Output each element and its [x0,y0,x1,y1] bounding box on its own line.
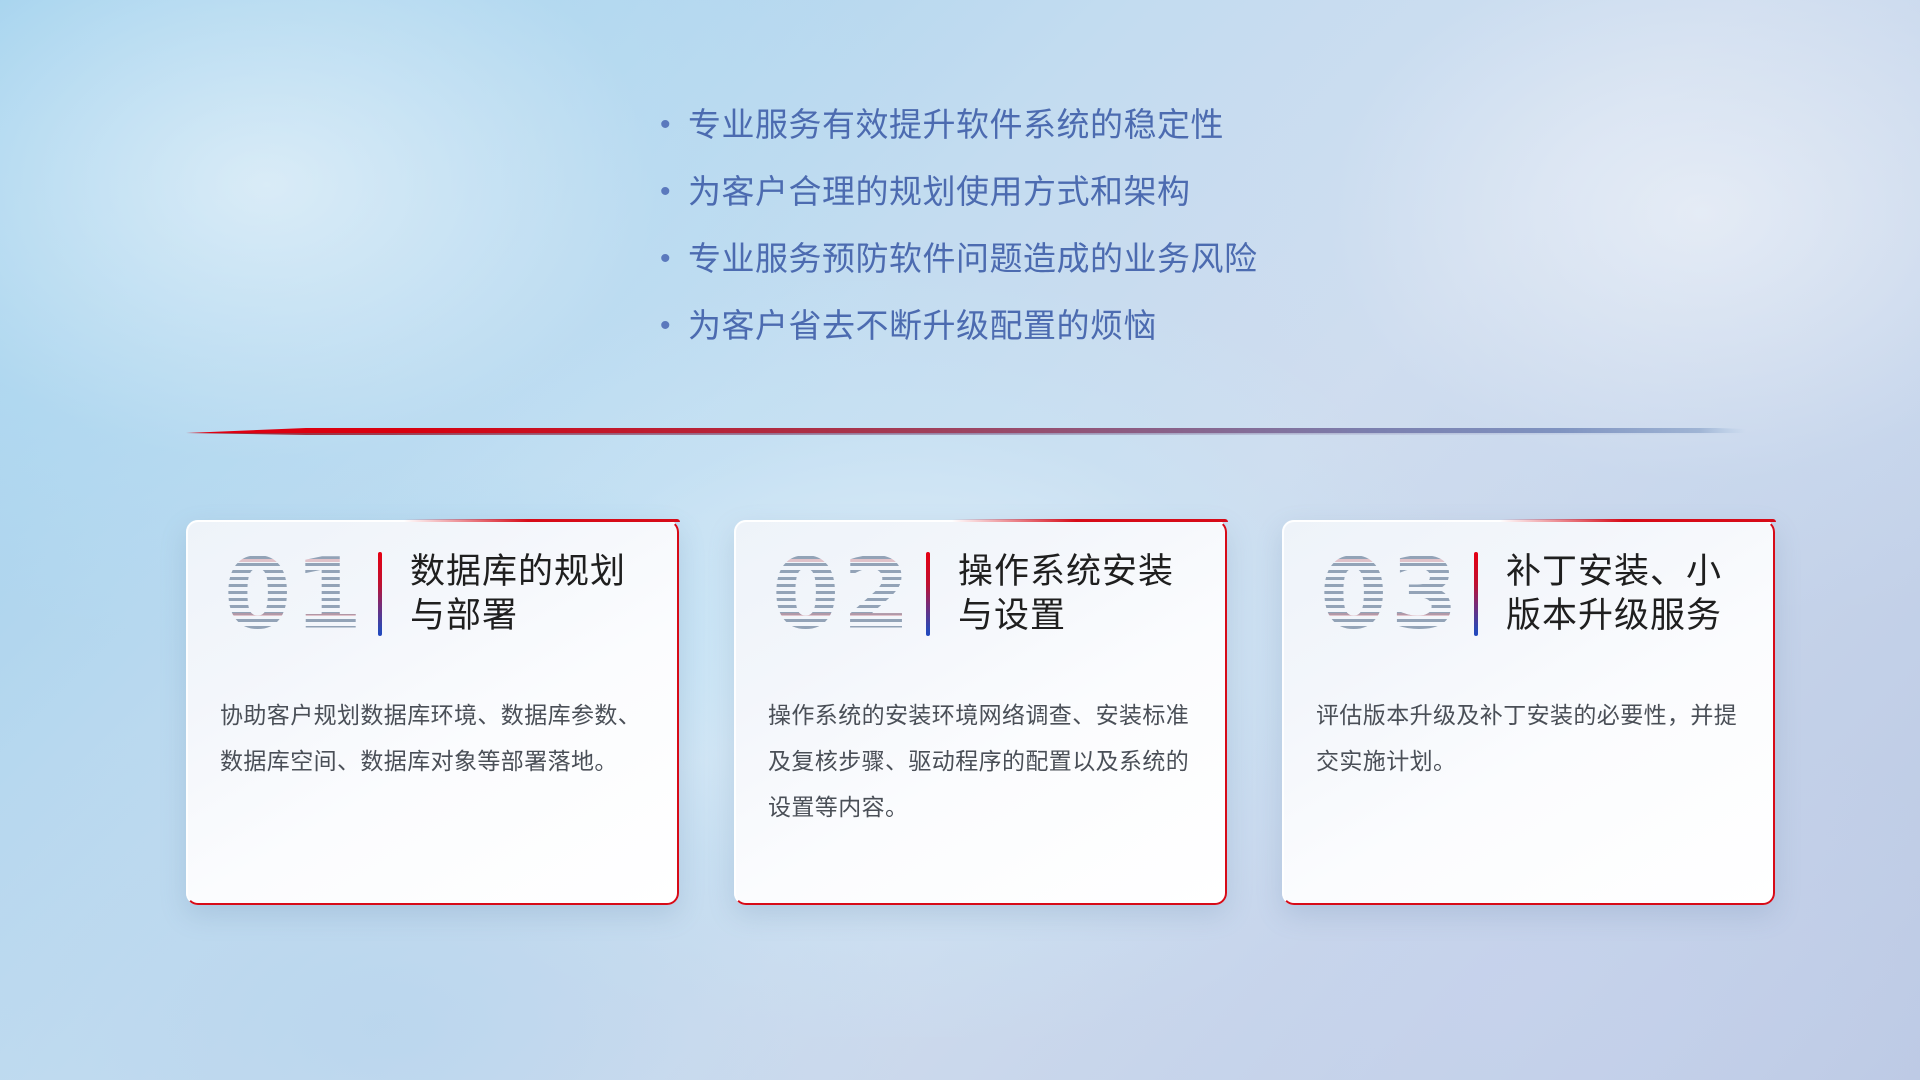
card-description: 操作系统的安装环境网络调查、安装标准及复核步骤、驱动程序的配置以及系统的设置等内… [768,692,1197,830]
service-card[interactable]: 03 03 补丁安装、小版本升级服务 评估版本升级及补丁安装的必要性，并提交实施… [1282,520,1775,905]
service-card[interactable]: 01 01 数据库的规划与部署 协助客户规划数据库环境、数据库参数、数据库空间、… [186,520,679,905]
bullet-item: • 为客户合理的规划使用方式和架构 [660,175,1560,208]
divider-shape-icon [186,424,1746,440]
bullet-marker-icon: • [660,177,688,207]
bullet-text: 专业服务预防软件问题造成的业务风险 [688,242,1258,275]
card-accent-divider [926,552,930,636]
bullet-item: • 为客户省去不断升级配置的烦恼 [660,309,1560,342]
card-title: 操作系统安装与设置 [958,550,1208,638]
section-divider [186,424,1746,440]
card-number-text-tint: 01 [220,535,370,653]
card-accent-divider [1474,552,1478,636]
card-number-text-tint: 03 [1316,535,1466,653]
bullet-item: • 专业服务有效提升软件系统的稳定性 [660,108,1560,141]
card-number-text-tint: 02 [768,535,918,653]
bullet-marker-icon: • [660,311,688,341]
benefits-bullet-list: • 专业服务有效提升软件系统的稳定性 • 为客户合理的规划使用方式和架构 • 专… [660,108,1560,376]
service-cards-row: 01 01 数据库的规划与部署 协助客户规划数据库环境、数据库参数、数据库空间、… [186,520,1776,912]
card-number-watermark: 01 01 [220,535,370,653]
card-header: 02 02 操作系统安装与设置 [734,520,1227,668]
card-number-watermark: 02 02 [768,535,918,653]
bullet-marker-icon: • [660,110,688,140]
service-card[interactable]: 02 02 操作系统安装与设置 操作系统的安装环境网络调查、安装标准及复核步骤、… [734,520,1227,905]
bullet-item: • 专业服务预防软件问题造成的业务风险 [660,242,1560,275]
bullet-text: 为客户合理的规划使用方式和架构 [688,175,1191,208]
card-description: 评估版本升级及补丁安装的必要性，并提交实施计划。 [1316,692,1745,784]
card-description: 协助客户规划数据库环境、数据库参数、数据库空间、数据库对象等部署落地。 [220,692,649,784]
card-number-watermark: 03 03 [1316,535,1466,653]
card-header: 01 01 数据库的规划与部署 [186,520,679,668]
bullet-marker-icon: • [660,244,688,274]
card-title: 数据库的规划与部署 [410,550,660,638]
card-title: 补丁安装、小版本升级服务 [1506,550,1756,638]
bullet-text: 专业服务有效提升软件系统的稳定性 [688,108,1224,141]
bullet-text: 为客户省去不断升级配置的烦恼 [688,309,1157,342]
card-accent-divider [378,552,382,636]
card-header: 03 03 补丁安装、小版本升级服务 [1282,520,1775,668]
